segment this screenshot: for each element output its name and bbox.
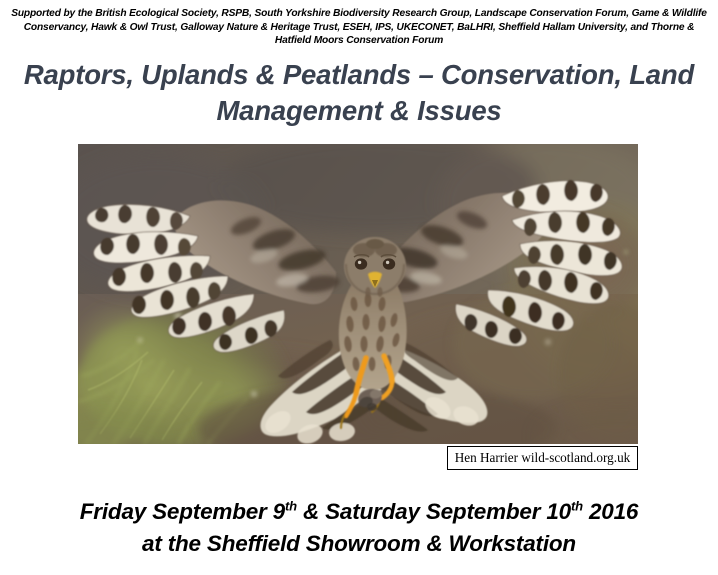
event-year: 2016 [583, 499, 638, 524]
event-date-1-prefix: Friday September [80, 499, 273, 524]
page-title-line-1: Raptors, Uplands & Peatlands – Conservat… [20, 57, 698, 93]
page-title-line-2: Management & Issues [20, 93, 698, 129]
photo-credit-box: Hen Harrier wild-scotland.org.uk [447, 446, 638, 470]
event-date-2-prefix: Saturday September [325, 499, 546, 524]
event-date-2-number: 10 [546, 499, 571, 524]
hen-harrier-photo-illustration [78, 144, 638, 444]
hen-harrier-photograph [78, 144, 638, 444]
event-date-1-ordinal: th [285, 499, 297, 514]
event-date-2-ordinal: th [571, 499, 583, 514]
event-dates: Friday September 9th & Saturday Septembe… [20, 497, 698, 527]
event-details: Friday September 9th & Saturday Septembe… [20, 497, 698, 559]
photo-credit-text: Hen Harrier wild-scotland.org.uk [455, 450, 631, 466]
event-venue: at the Sheffield Showroom & Workstation [20, 529, 698, 559]
event-date-1-number: 9 [273, 499, 285, 524]
supporters-credit-line: Supported by the British Ecological Soci… [9, 7, 709, 48]
page-title: Raptors, Uplands & Peatlands – Conservat… [20, 57, 698, 129]
conference-poster: Supported by the British Ecological Soci… [0, 0, 718, 575]
event-dates-conjunction: & [297, 499, 325, 524]
